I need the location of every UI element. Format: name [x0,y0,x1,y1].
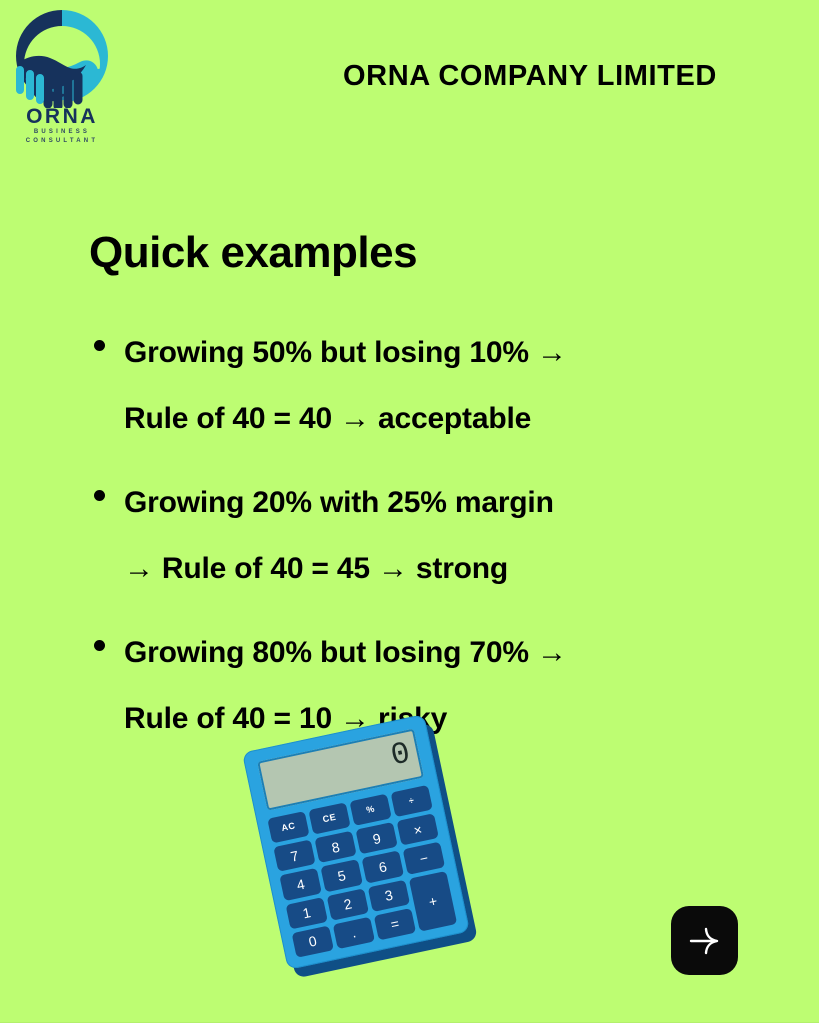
handshake-circle-logo-icon [10,4,114,108]
calculator-key-8: 8 [314,831,356,864]
list-item-text: Growing 20% with 25% margin → Rule of 40… [89,470,749,602]
calculator-display-value: 0 [388,737,413,774]
calculator-key-2: 2 [327,888,369,921]
list-item-text: Growing 50% but losing 10% → Rule of 40 … [89,320,749,452]
arrow-right-icon [687,926,723,956]
bullet-dot-icon [94,490,105,501]
list-item-line: Growing 20% with 25% margin [124,470,749,536]
calculator-body-group: 0 AC CE % ÷ 7 8 9 × 4 5 6 − 1 2 3 + 0 [242,714,470,970]
bullet-dot-icon [94,640,105,651]
calculator-key-1: 1 [285,897,327,930]
calculator-key-multiply: × [397,813,439,846]
slide-canvas: ORNA BUSINESS CONSULTANT ORNA COMPANY LI… [0,0,819,1023]
list-item-line: Growing 80% but losing 70% → [124,620,749,686]
calculator-key-6: 6 [362,851,404,884]
logo-tagline-line1: BUSINESS [4,128,120,137]
logo-tagline: BUSINESS CONSULTANT [4,128,120,146]
calculator-key-3: 3 [368,879,410,912]
calculator-key-5: 5 [320,859,362,892]
header-title: ORNA COMPANY LIMITED [343,60,717,93]
page-title: Quick examples [89,228,417,278]
calculator-illustration: 0 AC CE % ÷ 7 8 9 × 4 5 6 − 1 2 3 + 0 [243,723,478,968]
logo-tagline-line2: CONSULTANT [4,137,120,146]
logo-wordmark: ORNA [4,106,120,128]
company-logo: ORNA BUSINESS CONSULTANT [4,2,120,152]
examples-list: Growing 50% but losing 10% → Rule of 40 … [89,320,749,770]
list-item: Growing 20% with 25% margin → Rule of 40… [89,470,749,602]
list-item-line: Rule of 40 = 40 → acceptable [124,386,749,452]
calculator-key-9: 9 [356,822,398,855]
bullet-dot-icon [94,340,105,351]
calculator-key-minus: − [403,842,445,875]
list-item-line: Growing 50% but losing 10% → [124,320,749,386]
list-item-line: → Rule of 40 = 45 → strong [124,536,749,602]
next-button[interactable] [671,906,738,975]
calculator-key-4: 4 [279,868,321,901]
calculator-key-7: 7 [273,840,315,873]
list-item: Growing 50% but losing 10% → Rule of 40 … [89,320,749,452]
